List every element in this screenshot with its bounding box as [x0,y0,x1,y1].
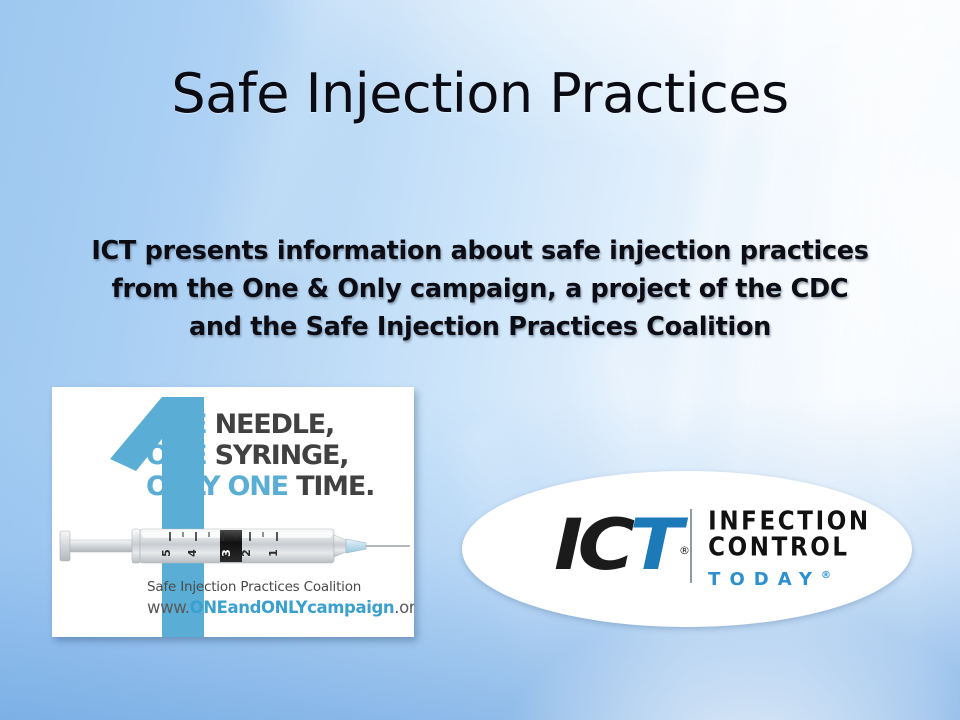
headline-dark-2: SYRINGE, [215,440,349,471]
coalition-name: Safe Injection Practices Coalition [147,579,414,595]
svg-text:4: 4 [186,549,199,557]
url-prefix: www. [147,598,190,617]
tagline-today-text: TODAY [708,569,821,590]
logo-divider [690,509,692,583]
slide-title: Safe Injection Practices [0,62,960,125]
campaign-url[interactable]: www.ONEandONLYcampaign.org [147,598,414,617]
headline-line-1: ONE NEEDLE, [146,409,374,440]
syringe-icon: 5 4 3 2 1 [58,515,414,579]
ict-letters-ic: IC [554,504,630,586]
headline-dark-1: NEEDLE, [215,409,334,440]
one-and-only-campaign-poster: ONE NEEDLE, ONE SYRINGE, ONLY ONE TIME. [52,387,414,637]
svg-text:3: 3 [220,549,233,557]
svg-text:5: 5 [160,549,173,557]
ict-wordmark: ICT® [554,507,677,587]
url-brand: ONEandONLYcampaign [190,598,395,617]
headline-blue-2: ONE [146,440,206,471]
subtitle-line-2: from the One & Only campaign, a project … [60,270,900,308]
tagline-today: TODAY® [708,563,871,593]
poster-headline: ONE NEEDLE, ONE SYRINGE, ONLY ONE TIME. [146,409,374,502]
subtitle-line-1: ICT presents information about safe inje… [60,232,900,270]
url-suffix: .org [394,598,414,617]
infection-control-today-logo: ICT® INFECTION CONTROL TODAY® [462,471,912,627]
svg-text:2: 2 [240,549,253,557]
headline-blue-1: ONE [146,409,206,440]
presentation-slide: Safe Injection Practices ICT presents in… [0,0,960,720]
tagline-infection: INFECTION [708,507,871,536]
headline-dark-3: TIME. [296,471,374,502]
headline-line-3: ONLY ONE TIME. [146,471,374,502]
ict-letter-t: T [630,504,678,586]
headline-blue-3: ONLY ONE [146,471,288,502]
logo-mark: ICT® INFECTION CONTROL TODAY® [554,507,871,587]
subtitle-line-3: and the Safe Injection Practices Coaliti… [60,308,900,346]
headline-line-2: ONE SYRINGE, [146,440,374,471]
svg-text:1: 1 [267,549,280,557]
registered-mark-today-icon: ® [821,570,831,581]
poster-footer: Safe Injection Practices Coalition www.O… [147,579,414,617]
logo-tagline: INFECTION CONTROL TODAY® [708,507,871,587]
tagline-control: CONTROL [708,533,871,562]
registered-mark-icon: ® [679,513,690,589]
slide-subtitle: ICT presents information about safe inje… [60,232,900,346]
